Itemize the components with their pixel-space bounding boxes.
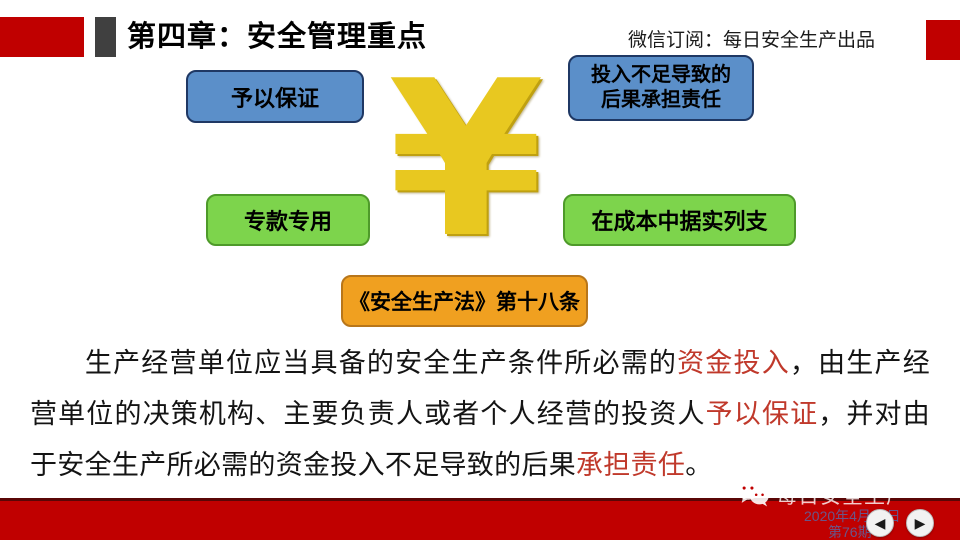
yen-currency-image: ¥ bbox=[378, 60, 553, 260]
callout-box-chengben-lizhi[interactable]: 在成本中据实列支 bbox=[563, 194, 796, 246]
callout-box-law-article[interactable]: 《安全生产法》第十八条 bbox=[341, 275, 588, 327]
body-paragraph: 生产经营单位应当具备的安全生产条件所必需的资金投入，由生产经营单位的决策机构、主… bbox=[30, 338, 930, 491]
header-red-accent-left bbox=[0, 17, 84, 57]
footer-bar bbox=[0, 498, 960, 540]
body-highlight-zijintouru: 资金投入 bbox=[677, 348, 790, 378]
page-title: 第四章：安全管理重点 bbox=[127, 19, 427, 55]
body-segment: 。 bbox=[685, 450, 712, 480]
slide-canvas: 第四章：安全管理重点 微信订阅：每日安全生产出品 ¥ 予以保证 投入不足导致的 … bbox=[0, 0, 960, 540]
callout-box-zhuankuan-zhuanyong[interactable]: 专款专用 bbox=[206, 194, 370, 246]
body-highlight-chengdanzeren: 承担责任 bbox=[576, 450, 685, 480]
subscription-note: 微信订阅：每日安全生产出品 bbox=[628, 29, 875, 53]
header-gray-accent-left bbox=[95, 17, 116, 57]
prev-slide-button[interactable]: ◀ bbox=[866, 509, 894, 537]
body-highlight-yuyibaozheng: 予以保证 bbox=[706, 399, 819, 429]
yen-currency-icon: ¥ bbox=[388, 80, 544, 240]
header-red-accent-right bbox=[926, 20, 960, 60]
next-slide-button[interactable]: ▶ bbox=[906, 509, 934, 537]
body-segment: 生产经营单位应当具备的安全生产条件所必需的 bbox=[84, 348, 677, 378]
callout-box-touru-buzu[interactable]: 投入不足导致的 后果承担责任 bbox=[568, 55, 754, 121]
callout-box-yuyibaozheng[interactable]: 予以保证 bbox=[186, 70, 364, 123]
